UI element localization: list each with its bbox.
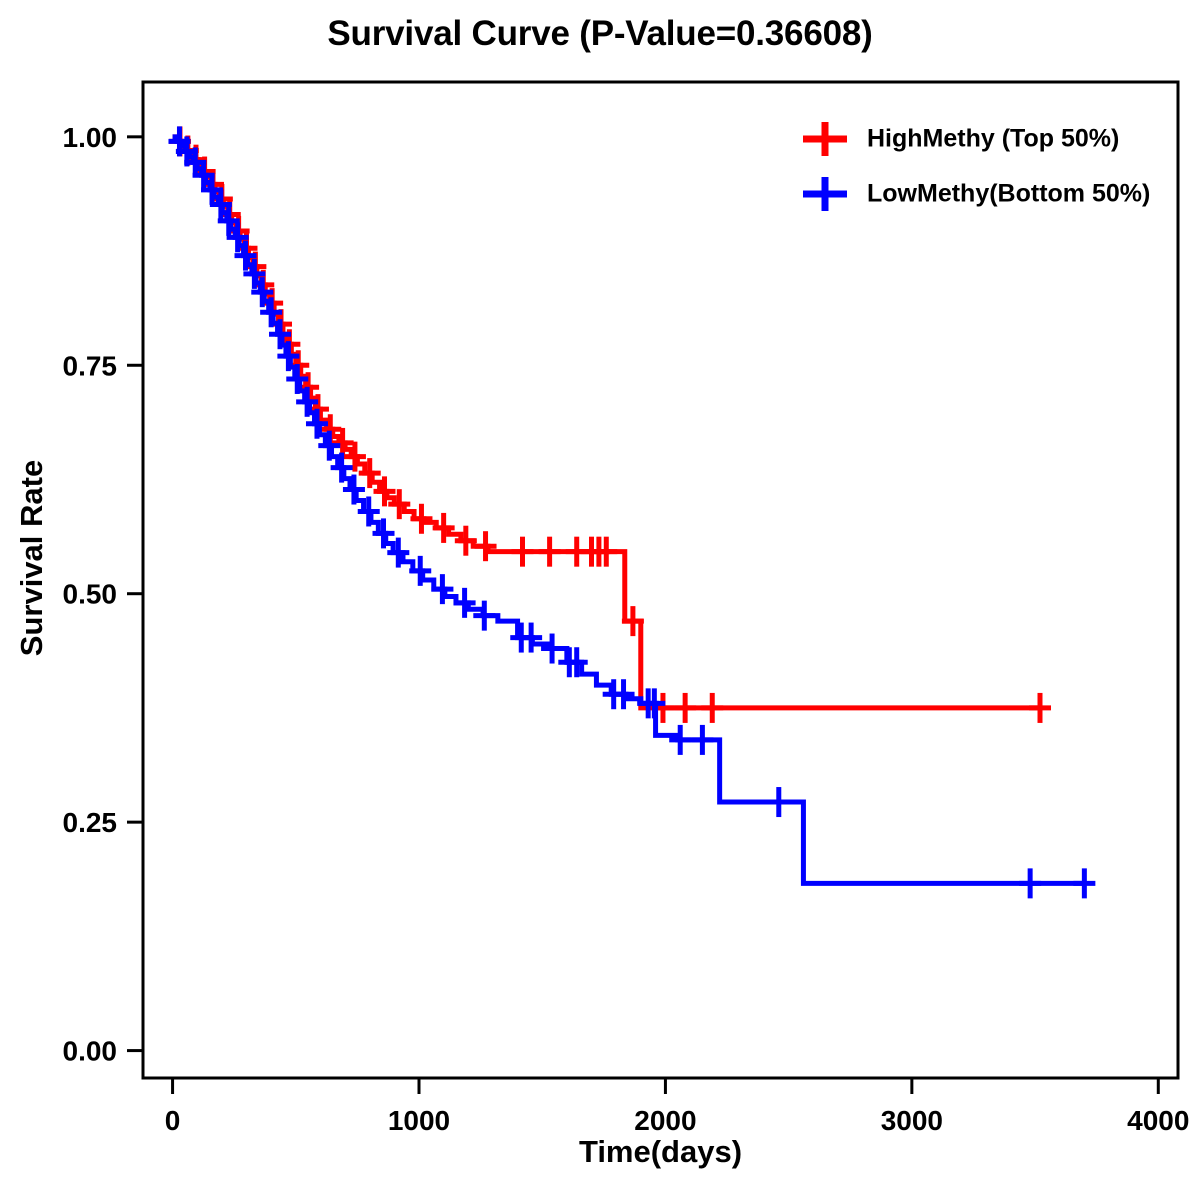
survival-chart-figure: Survival Curve (P-Value=0.36608) Surviva… xyxy=(0,0,1200,1200)
x-axis-ticks: 01000200030004000 xyxy=(165,1078,1190,1136)
legend-label: LowMethy(Bottom 50%) xyxy=(867,180,1150,208)
y-axis-ticks: 0.000.250.500.751.00 xyxy=(63,122,144,1067)
x-tick-label: 1000 xyxy=(388,1105,450,1136)
plot-frame xyxy=(143,82,1178,1078)
x-tick-label: 2000 xyxy=(634,1105,696,1136)
x-tick-label: 3000 xyxy=(881,1105,943,1136)
y-tick-label: 0.25 xyxy=(63,807,118,838)
y-tick-label: 0.75 xyxy=(63,350,118,381)
plot-area: 0.000.250.500.751.00 01000200030004000 H… xyxy=(0,0,1200,1200)
x-tick-label: 4000 xyxy=(1127,1105,1189,1136)
x-tick-label: 0 xyxy=(165,1105,181,1136)
y-tick-label: 1.00 xyxy=(63,122,118,153)
y-tick-label: 0.50 xyxy=(63,579,118,610)
legend-label: HighMethy (Top 50%) xyxy=(867,125,1119,153)
y-tick-label: 0.00 xyxy=(63,1036,118,1067)
